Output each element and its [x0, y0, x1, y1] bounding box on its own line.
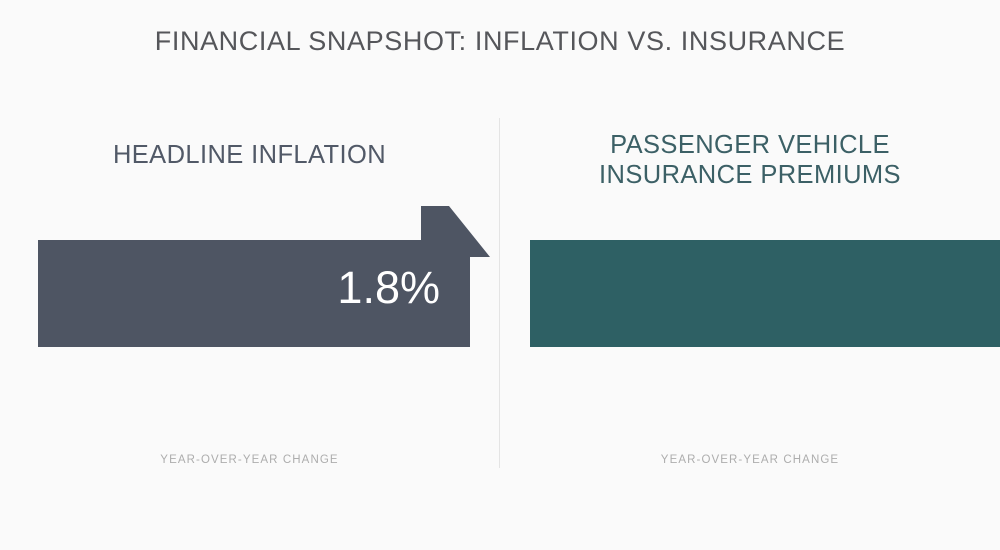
panel-heading-inflation: HEADLINE INFLATION [0, 140, 499, 170]
infographic-canvas: FINANCIAL SNAPSHOT: INFLATION VS. INSURA… [0, 0, 1000, 550]
inflation-value: 1.8% [240, 263, 440, 313]
panel-insurance-premiums: PASSENGER VEHICLE INSURANCE PREMIUMS 8.2… [500, 0, 1000, 550]
insurance-arrow-graphic [500, 200, 1000, 355]
panel-headline-inflation: HEADLINE INFLATION 1.8% YEAR-OVER-YEAR C… [0, 0, 499, 550]
insurance-caption: YEAR-OVER-YEAR CHANGE [500, 454, 1000, 466]
panel-heading-insurance: PASSENGER VEHICLE INSURANCE PREMIUMS [500, 130, 1000, 190]
up-arrow-icon [500, 200, 1000, 355]
